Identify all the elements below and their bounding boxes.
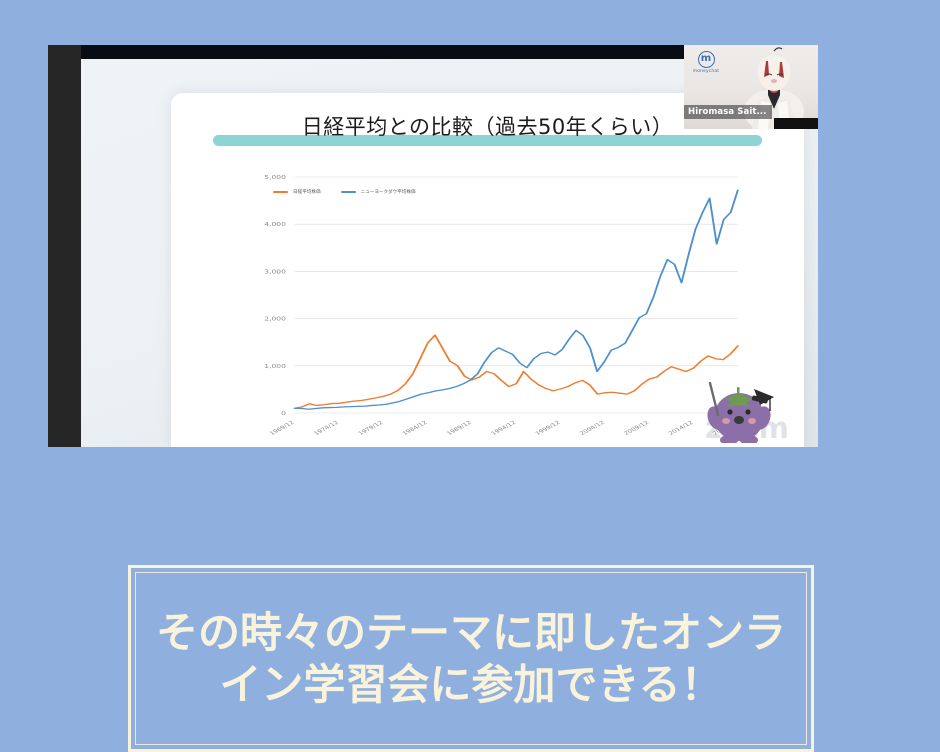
caption-line-2: イン学習会に参加できる！ [219,660,722,709]
caption-line-1: その時々のテーマに即したオンラ [156,608,786,657]
svg-text:2014/12: 2014/12 [667,420,695,437]
svg-text:1,000: 1,000 [264,363,286,369]
presentation-slide: 日経平均との比較（過去50年くらい） 日経平均株価 ニューヨークダウ平均株価 [171,93,804,447]
thumbnail-black-bar [774,118,818,129]
chart-y-axis-labels: 01,0002,0003,0004,0005,000 [264,174,286,416]
svg-text:1979/12: 1979/12 [357,420,385,437]
svg-text:5,000: 5,000 [264,174,286,180]
svg-text:1989/12: 1989/12 [445,420,473,437]
svg-text:1984/12: 1984/12 [401,420,429,437]
svg-text:1969/12: 1969/12 [268,420,296,437]
svg-text:1999/12: 1999/12 [534,420,562,437]
line-chart-svg: 01,0002,0003,0004,0005,000 1969/121974/1… [181,163,764,447]
svg-text:4,000: 4,000 [264,221,286,227]
chart-gridlines [295,177,738,413]
legend-swatch-nikkei [273,191,288,194]
caption-box: その時々のテーマに即したオンラ イン学習会に参加できる！ [128,565,814,752]
svg-text:1974/12: 1974/12 [313,420,341,437]
chart-series-lines [295,190,738,409]
legend-item-nikkei: 日経平均株価 [273,189,321,195]
svg-text:3,000: 3,000 [264,269,286,275]
svg-text:1994/12: 1994/12 [490,420,518,437]
participant-name-label: Hiromasa Sait... [684,105,772,119]
svg-text:0: 0 [281,410,286,416]
legend-item-dow: ニューヨークダウ平均株価 [341,189,416,195]
chart-line-日経平均株価 [295,335,738,408]
legend-swatch-dow [341,191,356,194]
caption-text: その時々のテーマに即したオンラ イン学習会に参加できる！ [156,607,786,709]
legend-label-dow: ニューヨークダウ平均株価 [361,189,416,195]
legend-label-nikkei: 日経平均株価 [293,189,321,195]
svg-text:2009/12: 2009/12 [623,420,651,437]
chart-legend: 日経平均株価 ニューヨークダウ平均株価 [273,189,416,195]
caption-inner-border: その時々のテーマに即したオンラ イン学習会に参加できる！ [135,572,807,745]
moneychat-logo-icon: m [698,51,715,68]
chart-line-ニューヨークダウ平均株価 [295,190,738,409]
chart-x-axis-labels: 1969/121974/121979/121984/121989/121994/… [268,420,740,437]
moneychat-logo-text: moneychat [691,69,721,74]
moneychat-logo: m moneychat [691,51,721,74]
svg-text:2,000: 2,000 [264,316,286,322]
chart-container: 日経平均株価 ニューヨークダウ平均株価 01,0002,0003,0004,00… [181,163,764,447]
svg-text:2004/12: 2004/12 [578,420,606,437]
participant-video-thumbnail[interactable]: m moneychat Hiromasa Sait... [684,45,818,129]
eggplant-graduate-mascot-icon [696,373,782,443]
